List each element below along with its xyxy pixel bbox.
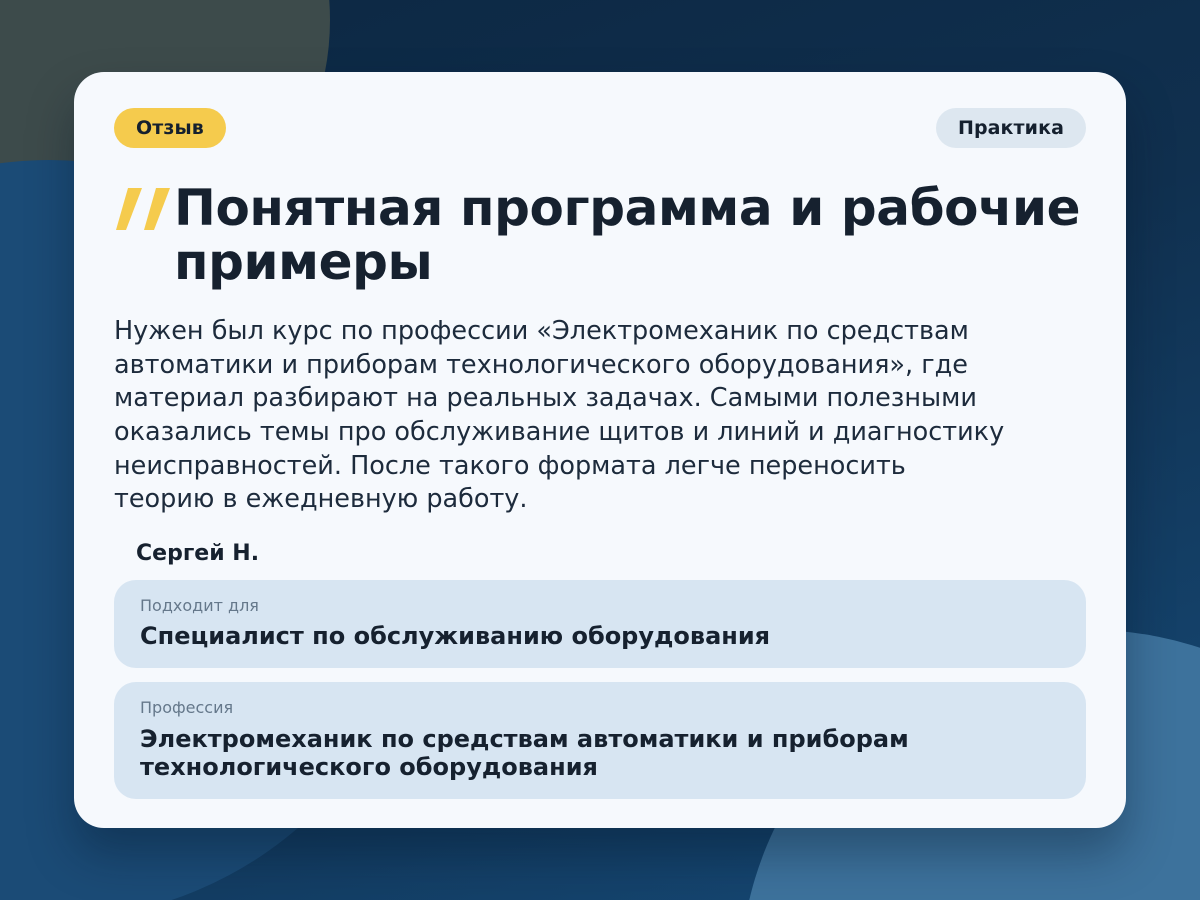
headline-row: Понятная программа и рабочие примеры	[114, 178, 1086, 289]
page-title: Понятная программа и рабочие примеры	[174, 182, 1086, 289]
badge-practice[interactable]: Практика	[936, 108, 1086, 148]
info-card-label: Профессия	[140, 698, 1060, 717]
slide-canvas: Отзыв Практика Понятная программа и рабо…	[0, 0, 1200, 900]
badge-review[interactable]: Отзыв	[114, 108, 226, 148]
info-card-suitable-for: Подходит для Специалист по обслуживанию …	[114, 580, 1086, 669]
info-card-label: Подходит для	[140, 596, 1060, 615]
info-card-profession: Профессия Электромеханик по средствам ав…	[114, 682, 1086, 799]
review-body-text: Нужен был курс по профессии «Электромеха…	[114, 315, 1014, 517]
info-card-value: Электромеханик по средствам автоматики и…	[140, 725, 1060, 782]
review-author-name: Сергей Н.	[136, 541, 1086, 566]
badge-row: Отзыв Практика	[114, 106, 1086, 150]
review-card: Отзыв Практика Понятная программа и рабо…	[74, 72, 1126, 828]
quote-mark-icon	[116, 188, 174, 234]
info-card-value: Специалист по обслуживанию оборудования	[140, 622, 1060, 650]
